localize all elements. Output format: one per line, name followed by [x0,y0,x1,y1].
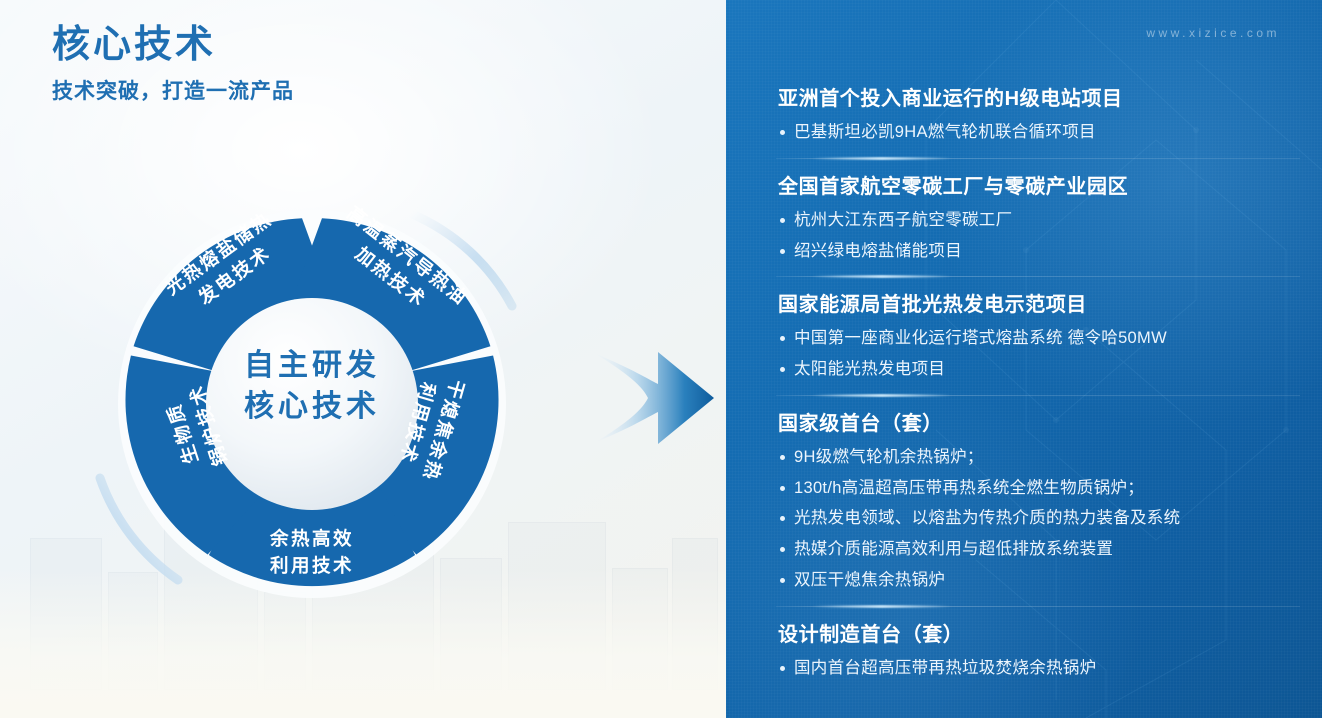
section-title: 亚洲首个投入商业运行的H级电站项目 [778,84,1298,114]
section-2: 国家能源局首批光热发电示范项目 中国第一座商业化运行塔式熔盐系统 德令哈50MW… [778,290,1298,382]
section-items: 国内首台超高压带再热垃圾焚烧余热锅炉 [778,656,1298,681]
section-1: 全国首家航空零碳工厂与零碳产业园区 杭州大江东西子航空零碳工厂 绍兴绿电熔盐储能… [778,172,1298,264]
section-title: 全国首家航空零碳工厂与零碳产业园区 [778,172,1298,202]
section-items: 杭州大江东西子航空零碳工厂 绍兴绿电熔盐储能项目 [778,208,1298,264]
list-item: 热媒介质能源高效利用与超低排放系统装置 [778,537,1298,562]
section-items: 9H级燃气轮机余热锅炉； 130t/h高温超高压带再热系统全燃生物质锅炉； 光热… [778,445,1298,593]
list-item: 巴基斯坦必凯9HA燃气轮机联合循环项目 [778,120,1298,145]
section-items: 中国第一座商业化运行塔式熔盐系统 德令哈50MW 太阳能光热发电项目 [778,326,1298,382]
transition-arrow [594,318,726,478]
achievements-list: 亚洲首个投入商业运行的H级电站项目 巴基斯坦必凯9HA燃气轮机联合循环项目 全国… [778,84,1298,686]
core-technology-donut: 光热熔盐储热 发电技术 高温蒸汽导热油 加热技术 干熄焦余热 利用技术 余热高效… [82,178,542,630]
right-arrow-icon [594,318,726,478]
section-divider [776,395,1300,396]
list-item: 杭州大江东西子航空零碳工厂 [778,208,1298,233]
list-item: 双压干熄焦余热锅炉 [778,568,1298,593]
section-title: 国家能源局首批光热发电示范项目 [778,290,1298,320]
section-divider [776,606,1300,607]
list-item: 130t/h高温超高压带再热系统全燃生物质锅炉； [778,476,1298,501]
list-item: 光热发电领域、以熔盐为传热介质的热力装备及系统 [778,506,1298,531]
donut-center-label: 自主研发 核心技术 [222,346,402,427]
right-panel: www.xizice.com 亚洲首个投入商业运行的H级电站项目 巴基斯坦必凯9… [726,0,1322,718]
section-items: 巴基斯坦必凯9HA燃气轮机联合循环项目 [778,120,1298,145]
section-4: 设计制造首台（套） 国内首台超高压带再热垃圾焚烧余热锅炉 [778,620,1298,681]
list-item: 绍兴绿电熔盐储能项目 [778,239,1298,264]
page-title: 核心技术 [52,22,294,70]
left-panel: 核心技术 技术突破，打造一流产品 [0,0,726,718]
section-3: 国家级首台（套） 9H级燃气轮机余热锅炉； 130t/h高温超高压带再热系统全燃… [778,409,1298,593]
section-divider [776,276,1300,277]
list-item: 9H级燃气轮机余热锅炉； [778,445,1298,470]
list-item: 太阳能光热发电项目 [778,357,1298,382]
list-item: 中国第一座商业化运行塔式熔盐系统 德令哈50MW [778,326,1298,351]
page-subtitle: 技术突破，打造一流产品 [52,78,294,105]
list-item: 国内首台超高压带再热垃圾焚烧余热锅炉 [778,656,1298,681]
slide-canvas: 核心技术 技术突破，打造一流产品 [0,0,1322,718]
section-title: 设计制造首台（套） [778,620,1298,650]
section-0: 亚洲首个投入商业运行的H级电站项目 巴基斯坦必凯9HA燃气轮机联合循环项目 [778,84,1298,145]
section-divider [776,158,1300,159]
section-title: 国家级首台（套） [778,409,1298,439]
site-watermark: www.xizice.com [1146,26,1280,40]
page-title-block: 核心技术 技术突破，打造一流产品 [52,22,294,105]
